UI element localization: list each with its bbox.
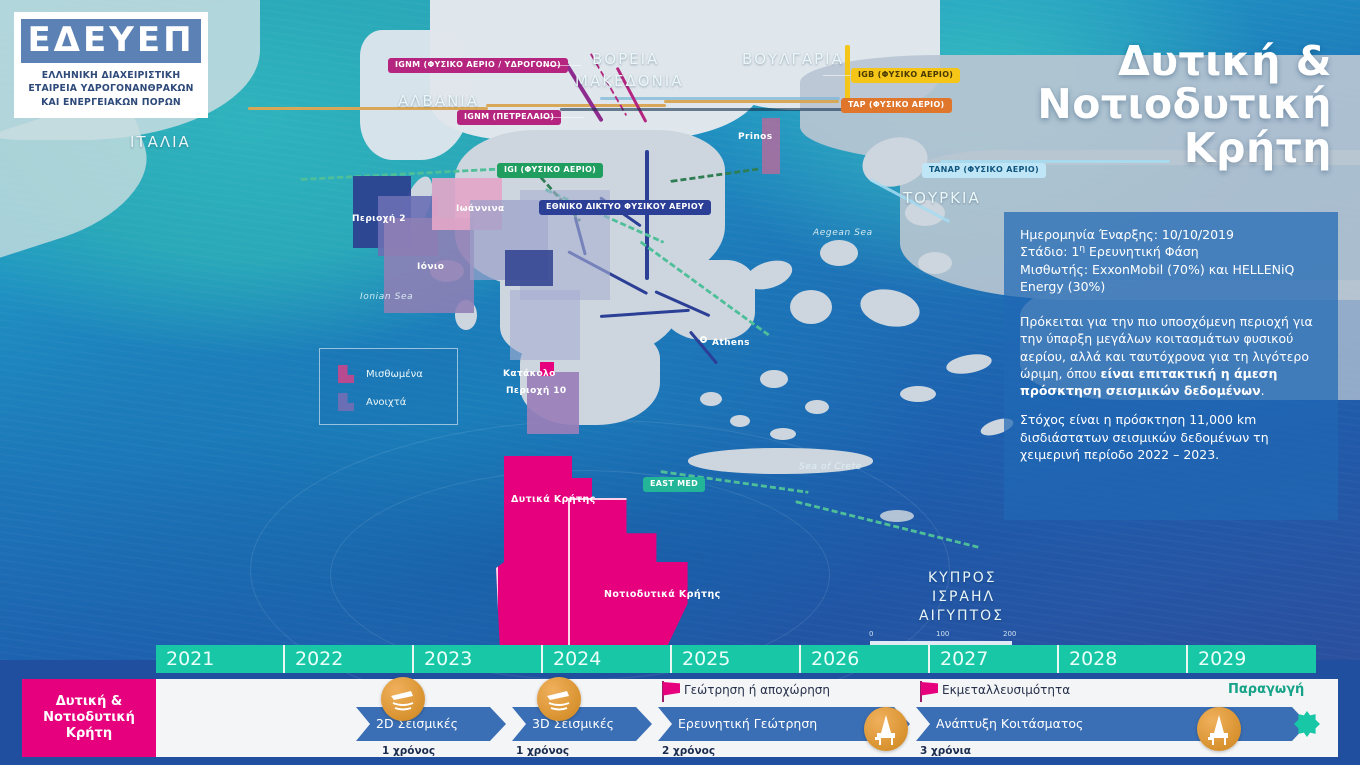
seismic-vessel-badge-3d: [537, 677, 581, 721]
concession-block-leased-dark[interactable]: [505, 250, 553, 286]
country-label-israel: ΙΣΡΑΗΛ: [932, 589, 995, 605]
pipeline-tag-tap[interactable]: TAP (ΦΥΣΙΚΟ ΑΕΡΙΟ): [841, 98, 952, 113]
block-label-ioannina: Ιωάννινα: [456, 204, 505, 214]
timeline-year-2021[interactable]: 2021: [156, 645, 285, 673]
infographic-stage: ΙΤΑΛΙΑ ΑΛΒΑΝΙΑ ΒΟΡΕΙΑ ΜΑΚΕΔΟΝΙΑ ΒΟΥΛΓΑΡΙ…: [0, 0, 1360, 765]
block-label-area2-text: Περιοχή 2: [352, 214, 406, 224]
pipeline-tag-ignm-gas[interactable]: IGNM (ΦΥΣΙΚΟ ΑΕΡΙΟ / ΥΔΡΟΓΟΝΟ): [388, 58, 568, 73]
pipeline-tag-eastmed[interactable]: EAST MED: [643, 477, 705, 492]
info-start-date: Ημερομηνία Έναρξης: 10/10/2019: [1020, 226, 1322, 243]
landmass-island: [805, 400, 829, 414]
city-dot-athens: [700, 336, 707, 343]
pipeline-tap-east: [664, 100, 839, 103]
scale-tick-0: 0: [869, 630, 873, 638]
seismic-vessel-badge-2d: [381, 677, 425, 721]
legend-label-open: Ανοιχτά: [366, 397, 406, 408]
timeline-row-label-line-3: Κρήτη: [43, 726, 135, 742]
timeline-year-2027[interactable]: 2027: [930, 645, 1059, 673]
concession-block-area10[interactable]: [527, 372, 579, 434]
drilling-rig-badge-production: [1197, 707, 1241, 751]
timeline-row-label-line-1: Δυτική &: [43, 694, 135, 710]
landmass-island: [820, 240, 858, 266]
timeline-year-2023[interactable]: 2023: [414, 645, 543, 673]
logo-subtitle-line-1: ΕΛΛΗΝΙΚΗ ΔΙΑΧΕΙΡΙΣΤΙΚΗ: [21, 69, 201, 82]
pipeline-national-grid-main: [645, 150, 649, 280]
page-title-line-3: Κρήτη: [1002, 127, 1332, 170]
block-label-west-crete: Δυτικά Κρήτης: [511, 494, 596, 505]
info-stage-suffix: Ερευνητική Φάση: [1085, 244, 1199, 259]
country-label-italy: ΙΤΑΛΙΑ: [130, 133, 191, 151]
timeline-year-2026[interactable]: 2026: [801, 645, 930, 673]
concession-block-prinos[interactable]: [762, 118, 780, 174]
concession-block-open-south[interactable]: [510, 290, 580, 360]
pipeline-tag-igi[interactable]: IGI (ΦΥΣΙΚΟ ΑΕΡΙΟ): [497, 163, 603, 178]
country-label-egypt: ΑΙΓΥΠΤΟΣ: [919, 608, 1004, 624]
timeline-duration-development: 3 χρόνια: [920, 745, 971, 757]
edeyep-logo[interactable]: ΕΔΕΥΕΠ ΕΛΛΗΝΙΚΗ ΔΙΑΧΕΙΡΙΣΤΙΚΗ ΕΤΑΙΡΕΙΑ Υ…: [14, 12, 208, 118]
block-label-area10: Περιοχή 10: [506, 386, 558, 396]
page-title-line-1: Δυτική &: [1002, 40, 1332, 83]
country-label-north: ΒΟΡΕΙΑ: [592, 50, 659, 68]
country-label-albania: ΑΛΒΑΝΙΑ: [398, 92, 479, 110]
legend-swatch-leased: [338, 365, 354, 383]
block-label-area2: Περιοχή 2: [352, 214, 402, 224]
page-title-line-2: Νοτιοδυτική: [1002, 83, 1332, 126]
block-label-southwest-crete: Νοτιοδυτικά Κρήτης: [604, 589, 721, 600]
project-timeline: 2021 2022 2023 2024 2025 2026 2027 2028 …: [0, 645, 1360, 765]
drilling-rig-badge-exploration: [864, 707, 908, 751]
landmass-island: [900, 386, 936, 402]
timeline-duration-3d: 1 χρόνος: [516, 745, 569, 757]
timeline-duration-2d: 1 χρόνος: [382, 745, 435, 757]
timeline-phase-2d-seismic[interactable]: 2D Σεισμικές μελέτες: [356, 707, 506, 741]
timeline-year-2029[interactable]: 2029: [1188, 645, 1316, 673]
timeline-year-2022[interactable]: 2022: [285, 645, 414, 673]
timeline-production-label: Παραγωγή: [1228, 682, 1304, 697]
milestone-flag-icon: [663, 682, 680, 696]
landmass-samos: [918, 252, 952, 274]
timeline-duration-drilling: 2 χρόνος: [662, 745, 715, 757]
info-paragraph-1: Πρόκειται για την πιο υποσχόμενη περιοχή…: [1020, 313, 1322, 399]
milestone-flag-icon: [921, 682, 938, 696]
info-lessee: Μισθωτής: ExxonMobil (70%) και HELLENiQ …: [1020, 261, 1322, 296]
city-label-katakolo: Κατάκολο: [503, 369, 556, 379]
map-legend: Μισθωμένα Ανοιχτά: [319, 348, 458, 425]
scale-tick-200: 200: [1003, 630, 1016, 638]
logo-subtitle-line-2: ΕΤΑΙΡΕΙΑ ΥΔΡΟΓΟΝΑΝΘΡΑΚΩΝ: [21, 82, 201, 95]
country-label-turkey: ΤΟΥΡΚΙΑ: [903, 189, 981, 207]
milestone-label-commerciality: Εκμεταλλευσιμότητα: [942, 683, 1070, 697]
landmass-island: [760, 370, 788, 388]
sea-label-aegean: Aegean Sea: [813, 228, 873, 238]
seismic-vessel-icon: [537, 677, 581, 721]
city-label-athens: Athens: [712, 338, 750, 348]
legend-swatch-open: [338, 393, 354, 411]
landmass-island: [770, 428, 796, 440]
oil-rig-icon: [864, 707, 908, 751]
country-label-bulgaria: ΒΟΥΛΓΑΡΙΑ: [742, 50, 844, 68]
landmass-island: [790, 290, 832, 324]
timeline-year-bar: 2021 2022 2023 2024 2025 2026 2027 2028 …: [156, 645, 1316, 673]
leader-line: [823, 75, 851, 76]
logo-mark: ΕΔΕΥΕΠ: [21, 19, 201, 63]
info-stage-prefix: Στάδιο: 1: [1020, 244, 1079, 259]
pipeline-tag-igb[interactable]: IGB (ΦΥΣΙΚΟ ΑΕΡΙΟ): [851, 68, 960, 83]
block-label-ionio: Ιόνιο: [417, 262, 444, 272]
info-panel: Ημερομηνία Έναρξης: 10/10/2019 Στάδιο: 1…: [1004, 212, 1338, 520]
timeline-phase-3d-seismic[interactable]: 3D Σεισμικές μελέτες: [512, 707, 652, 741]
leader-line: [543, 65, 581, 66]
country-label-cyprus: ΚΥΠΡΟΣ: [928, 570, 997, 586]
page-title: Δυτική & Νοτιοδυτική Κρήτη: [1002, 40, 1332, 170]
milestone-label-drill-or-drop: Γεώτρηση ή αποχώρηση: [684, 683, 830, 697]
oil-rig-icon: [1197, 707, 1241, 751]
timeline-year-2024[interactable]: 2024: [543, 645, 672, 673]
timeline-row: Δυτική & Νοτιοδυτική Κρήτη 2D Σεισμικές …: [22, 679, 1338, 757]
logo-subtitle: ΕΛΛΗΝΙΚΗ ΔΙΑΧΕΙΡΙΣΤΙΚΗ ΕΤΑΙΡΕΙΑ ΥΔΡΟΓΟΝΑ…: [21, 69, 201, 109]
legend-label-leased: Μισθωμένα: [366, 369, 423, 380]
info-stage: Στάδιο: 1η Ερευνητική Φάση: [1020, 243, 1322, 260]
scale-tick-100: 100: [936, 630, 949, 638]
seismic-vessel-icon: [381, 677, 425, 721]
pipeline-dark-line: [560, 108, 860, 111]
info-paragraph-1-c: .: [1261, 383, 1265, 398]
sea-label-crete: Sea of Crete: [799, 462, 862, 472]
country-label-macedonia: ΜΑΚΕΔΟΝΙΑ: [575, 72, 684, 90]
logo-subtitle-line-3: ΚΑΙ ΕΝΕΡΓΕΙΑΚΩΝ ΠΟΡΩΝ: [21, 96, 201, 109]
landmass-karpathos: [880, 510, 914, 522]
landmass-island: [700, 392, 722, 406]
timeline-row-label-line-2: Νοτιοδυτική: [43, 710, 135, 726]
city-label-prinos: Prinos: [738, 132, 772, 142]
timeline-year-2028[interactable]: 2028: [1059, 645, 1188, 673]
info-paragraph-2: Στόχος είναι η πρόσκτηση 11,000 km δισδι…: [1020, 411, 1322, 463]
pipeline-tag-national-grid[interactable]: ΕΘΝΙΚΟ ΔΙΚΤΥΟ ΦΥΣΙΚΟΥ ΑΕΡΙΟΥ: [539, 200, 711, 215]
leader-line: [542, 117, 584, 118]
timeline-year-2025[interactable]: 2025: [672, 645, 801, 673]
landmass-island: [730, 415, 750, 427]
sea-label-ionian: Ionian Sea: [360, 292, 413, 302]
timeline-row-label: Δυτική & Νοτιοδυτική Κρήτη: [22, 679, 156, 757]
